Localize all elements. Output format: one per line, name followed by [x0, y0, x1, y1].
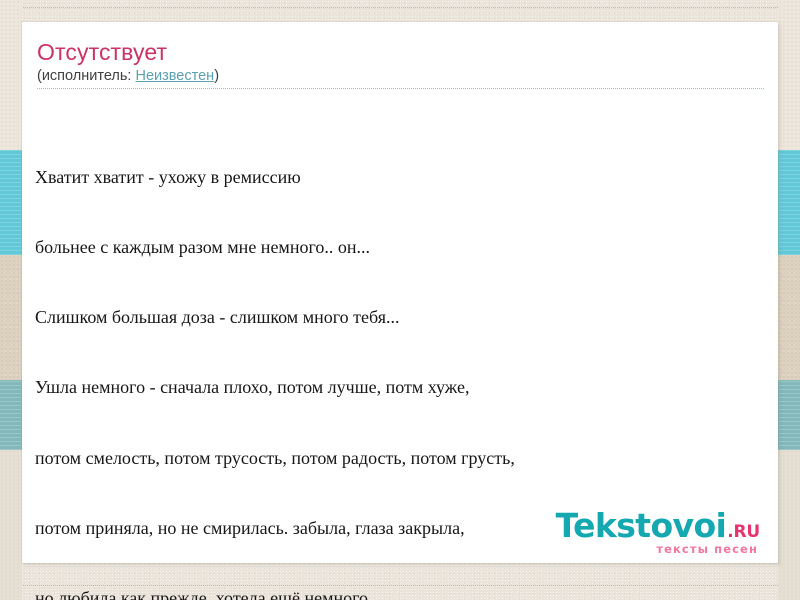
artist-link[interactable]: Неизвестен [135, 68, 214, 84]
band-segment-tan [778, 255, 800, 380]
lyrics-card: Отсутствует (исполнитель: Неизвестен) Хв… [22, 22, 778, 563]
logo-tld: .RU [727, 524, 760, 541]
band-segment-turquoise [778, 150, 800, 255]
lyric-line: Хватит хватит - ухожу в ремиссию [35, 166, 768, 189]
artist-suffix-label: ) [214, 68, 219, 84]
logo-tagline: тексты песен [556, 544, 758, 556]
band-segment-turquoise [0, 150, 22, 255]
logo-wordmark: Tekstovoi [556, 509, 727, 542]
band-segment-teal [778, 380, 800, 450]
right-decorative-band [778, 0, 800, 600]
lyric-line: Слишком большая доза - слишком много теб… [35, 306, 768, 329]
band-segment-tan [0, 255, 22, 380]
band-segment-cream-top [778, 0, 800, 150]
band-segment-cream-bottom [778, 450, 800, 600]
artist-line: (исполнитель: Неизвестен) [37, 67, 764, 85]
left-decorative-band [0, 0, 22, 600]
lyric-line: Ушла немного - сначала плохо, потом лучш… [35, 376, 768, 399]
band-segment-teal [0, 380, 22, 450]
artist-prefix-label: (исполнитель: [37, 68, 135, 84]
band-segment-cream-top [0, 0, 22, 150]
header-divider [37, 88, 764, 89]
lyric-line: больнее с каждым разом мне немного.. он.… [35, 236, 768, 259]
song-header: Отсутствует (исполнитель: Неизвестен) [37, 40, 764, 89]
lyric-line: но любила как прежде, хотела ещё немного [35, 587, 768, 600]
page-title: Отсутствует [37, 40, 764, 66]
top-dotted-rule [0, 7, 800, 8]
site-logo[interactable]: Tekstovoi.RU тексты песен [556, 509, 760, 556]
band-segment-cream-bottom [0, 450, 22, 600]
lyric-line: потом смелость, потом трусость, потом ра… [35, 447, 768, 470]
logo-wordmark-row: Tekstovoi.RU [556, 509, 760, 542]
page-root: Отсутствует (исполнитель: Неизвестен) Хв… [0, 0, 800, 600]
